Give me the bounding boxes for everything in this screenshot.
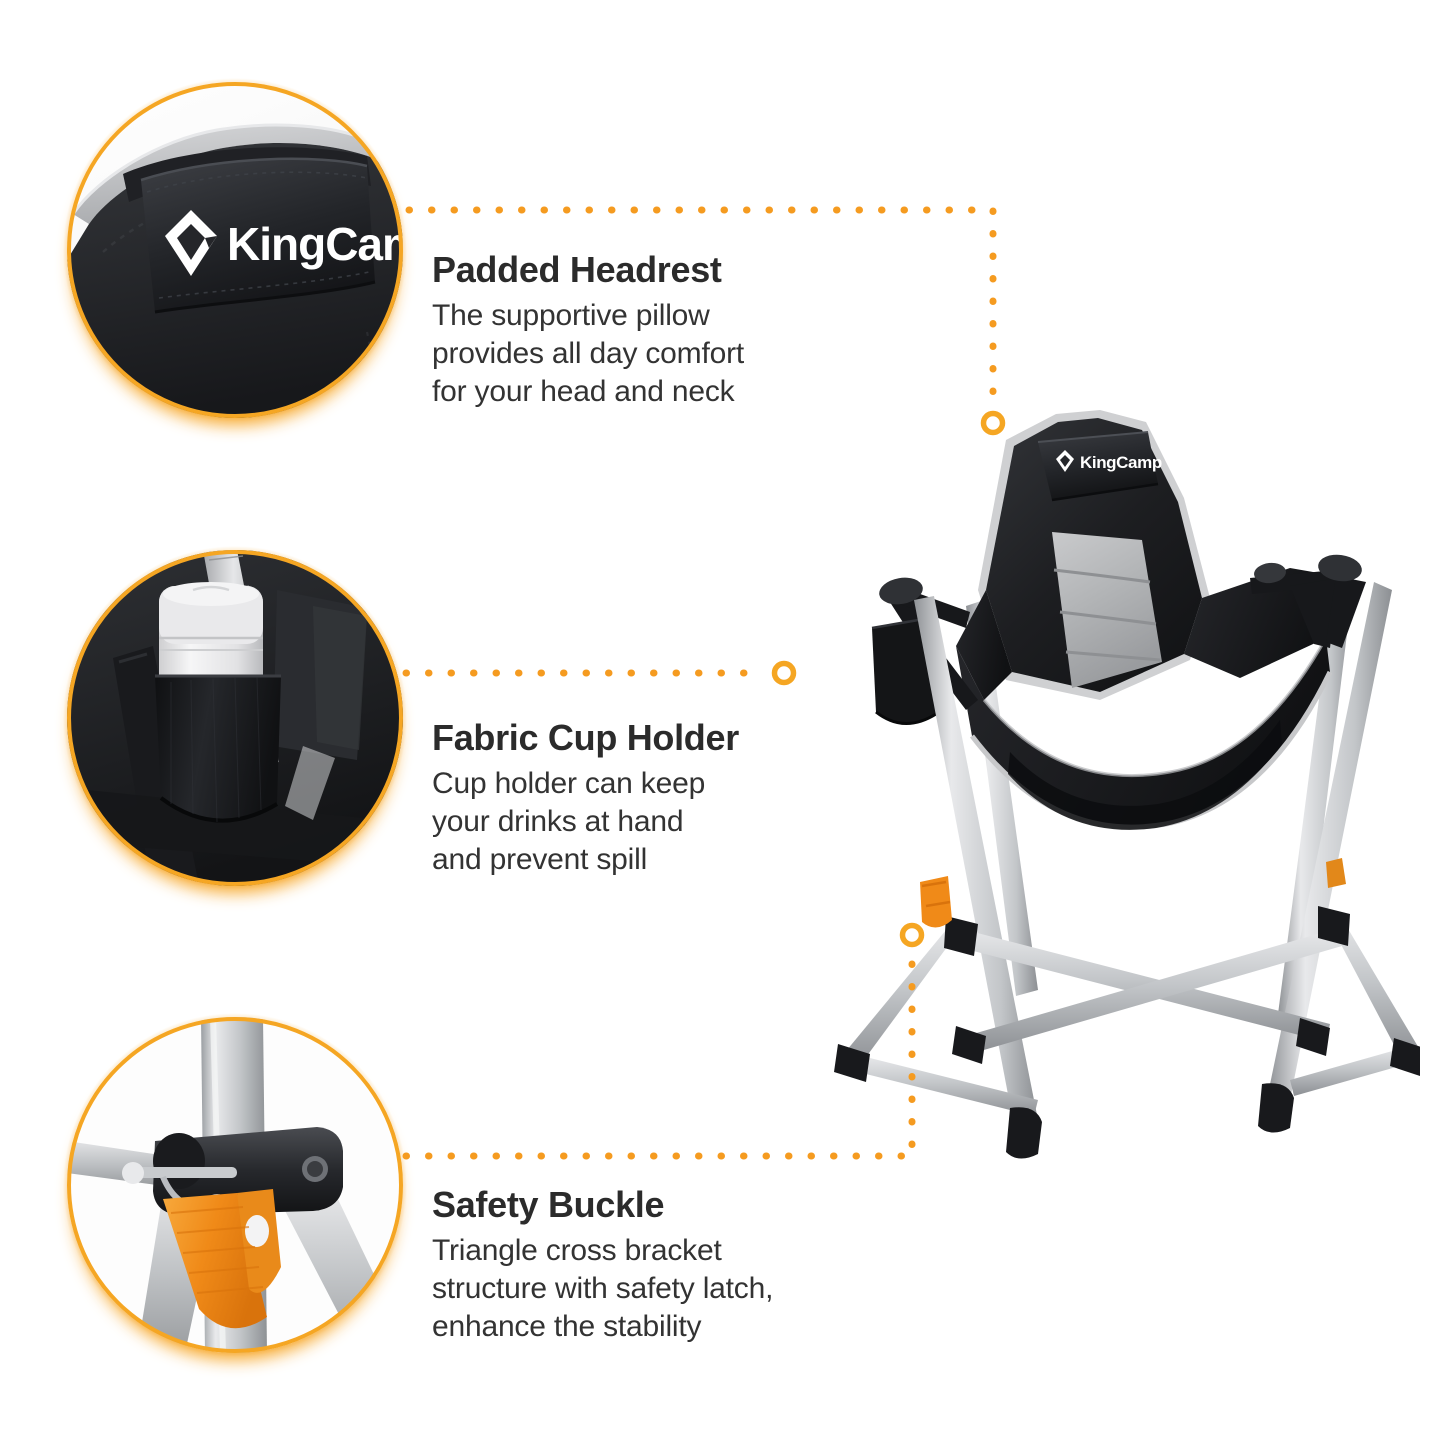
feature-inset-fabric-cup-holder xyxy=(67,550,403,886)
svg-text:KingCamp: KingCamp xyxy=(227,218,403,270)
chair-seat-assembly: KingCamp xyxy=(956,410,1336,830)
cup-holder-pouch xyxy=(155,676,281,822)
connector-padded-headrest xyxy=(405,195,1025,445)
connector-end-ring xyxy=(775,664,794,683)
feature-title: Safety Buckle xyxy=(432,1185,852,1225)
headrest-logo-text: KingCamp xyxy=(1080,453,1162,472)
feature-text-safety-buckle: Safety Buckle Triangle cross bracket str… xyxy=(432,1185,852,1347)
connector-safety-buckle xyxy=(402,915,942,1180)
connector-fabric-cup-holder xyxy=(402,658,812,698)
cup-holder-photo xyxy=(67,550,403,886)
feature-body-line: Triangle cross bracket xyxy=(432,1232,852,1270)
feature-body: Triangle cross bracket structure with sa… xyxy=(432,1232,852,1347)
feature-inset-padded-headrest: KingCamp xyxy=(67,82,403,418)
feature-body-line: structure with safety latch, xyxy=(432,1270,852,1308)
rear-orange-strap xyxy=(1326,858,1346,888)
connector-end-ring xyxy=(984,414,1003,433)
feature-body-line: enhance the stability xyxy=(432,1308,852,1346)
headrest-photo: KingCamp xyxy=(67,82,403,418)
connector-end-ring xyxy=(903,926,922,945)
infographic-canvas: KingCamp Padded Headrest The supportive … xyxy=(0,0,1440,1440)
safety-buckle-photo xyxy=(67,1017,403,1353)
feature-inset-safety-buckle xyxy=(67,1017,403,1353)
